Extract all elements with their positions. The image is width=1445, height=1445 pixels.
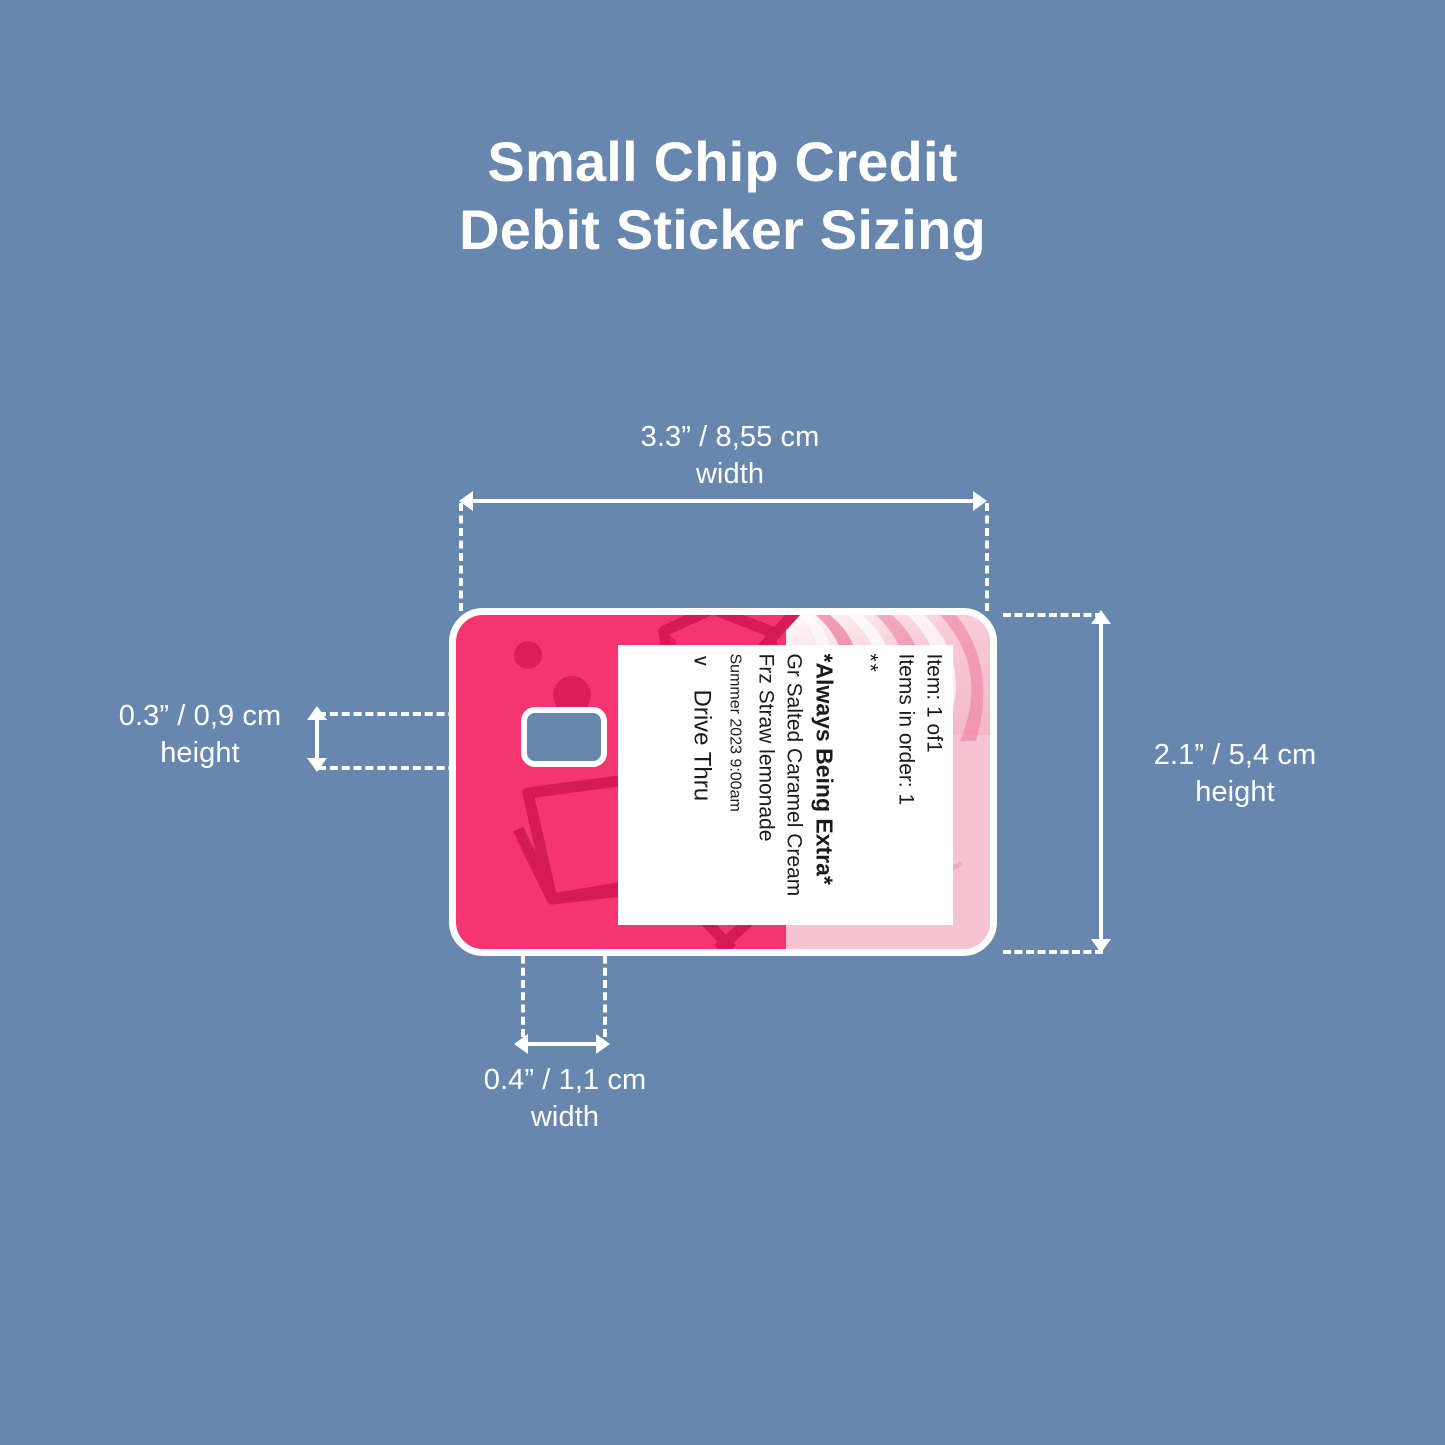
dimension-label-chip-height: 0.3” / 0,9 cm height — [95, 698, 305, 772]
dimension-value-card-height: 2.1” / 5,4 cm — [1154, 739, 1316, 771]
dimension-unit-card-height: height — [1110, 774, 1360, 811]
dimension-label-chip-width: 0.4” / 1,1 cm width — [440, 1062, 690, 1136]
arrow-head-right-icon — [596, 1034, 610, 1054]
receipt-promo-title: *Always Being Extra* — [810, 653, 837, 884]
arrow-shaft — [1099, 619, 1103, 944]
dimension-unit-card-width: width — [565, 456, 895, 493]
receipt-channel: Drive Thru — [687, 689, 715, 801]
dimension-value-card-width: 3.3” / 8,55 cm — [641, 421, 820, 453]
dimension-unit-chip-width: width — [440, 1099, 690, 1136]
receipt-item-count: Item: 1 of1 — [921, 653, 945, 752]
receipt-content: Item: 1 of1 Items in order: 1 ** *Always… — [618, 645, 953, 925]
chip-cutout — [521, 707, 607, 767]
arrow-shaft — [468, 499, 978, 503]
receipt-overlay: Item: 1 of1 Items in order: 1 ** *Always… — [618, 645, 953, 925]
arrow-head-bottom-icon — [307, 758, 327, 772]
receipt-items-in-order: Items in order: 1 — [893, 653, 917, 805]
receipt-product-line-2: Frz Straw lemonade — [753, 653, 777, 841]
guide-card-top-edge — [1003, 613, 1103, 617]
guide-card-left-edge — [459, 503, 463, 611]
chevron-down-icon: ∨ — [688, 653, 713, 668]
arrow-card-width — [459, 490, 987, 512]
arrow-chip-height — [306, 706, 328, 772]
receipt-product-line-1: Gr Salted Caramel Cream — [781, 653, 805, 896]
page-title: Small Chip Credit Debit Sticker Sizing — [0, 128, 1445, 265]
dimension-unit-chip-height: height — [95, 735, 305, 772]
dimension-value-chip-height: 0.3” / 0,9 cm — [119, 700, 281, 732]
receipt-separator: ** — [857, 653, 881, 673]
arrow-shaft — [315, 715, 319, 763]
page-title-line-2: Debit Sticker Sizing — [0, 196, 1445, 264]
arrow-card-height — [1090, 610, 1112, 953]
guide-card-bottom-edge — [1003, 950, 1103, 954]
arrow-shaft — [523, 1042, 601, 1046]
sticker-sizing-diagram: Small Chip Credit Debit Sticker Sizing 3… — [0, 0, 1445, 1445]
arrow-head-bottom-icon — [1091, 939, 1111, 953]
arrow-chip-width — [514, 1033, 610, 1055]
guide-card-right-edge — [985, 503, 989, 611]
dimension-label-card-width: 3.3” / 8,55 cm width — [565, 419, 895, 493]
dimension-value-chip-width: 0.4” / 1,1 cm — [484, 1064, 646, 1096]
dimension-label-card-height: 2.1” / 5,4 cm height — [1110, 737, 1360, 811]
receipt-timestamp: Summer 2023 9:00am — [725, 653, 743, 811]
page-title-line-1: Small Chip Credit — [0, 128, 1445, 196]
